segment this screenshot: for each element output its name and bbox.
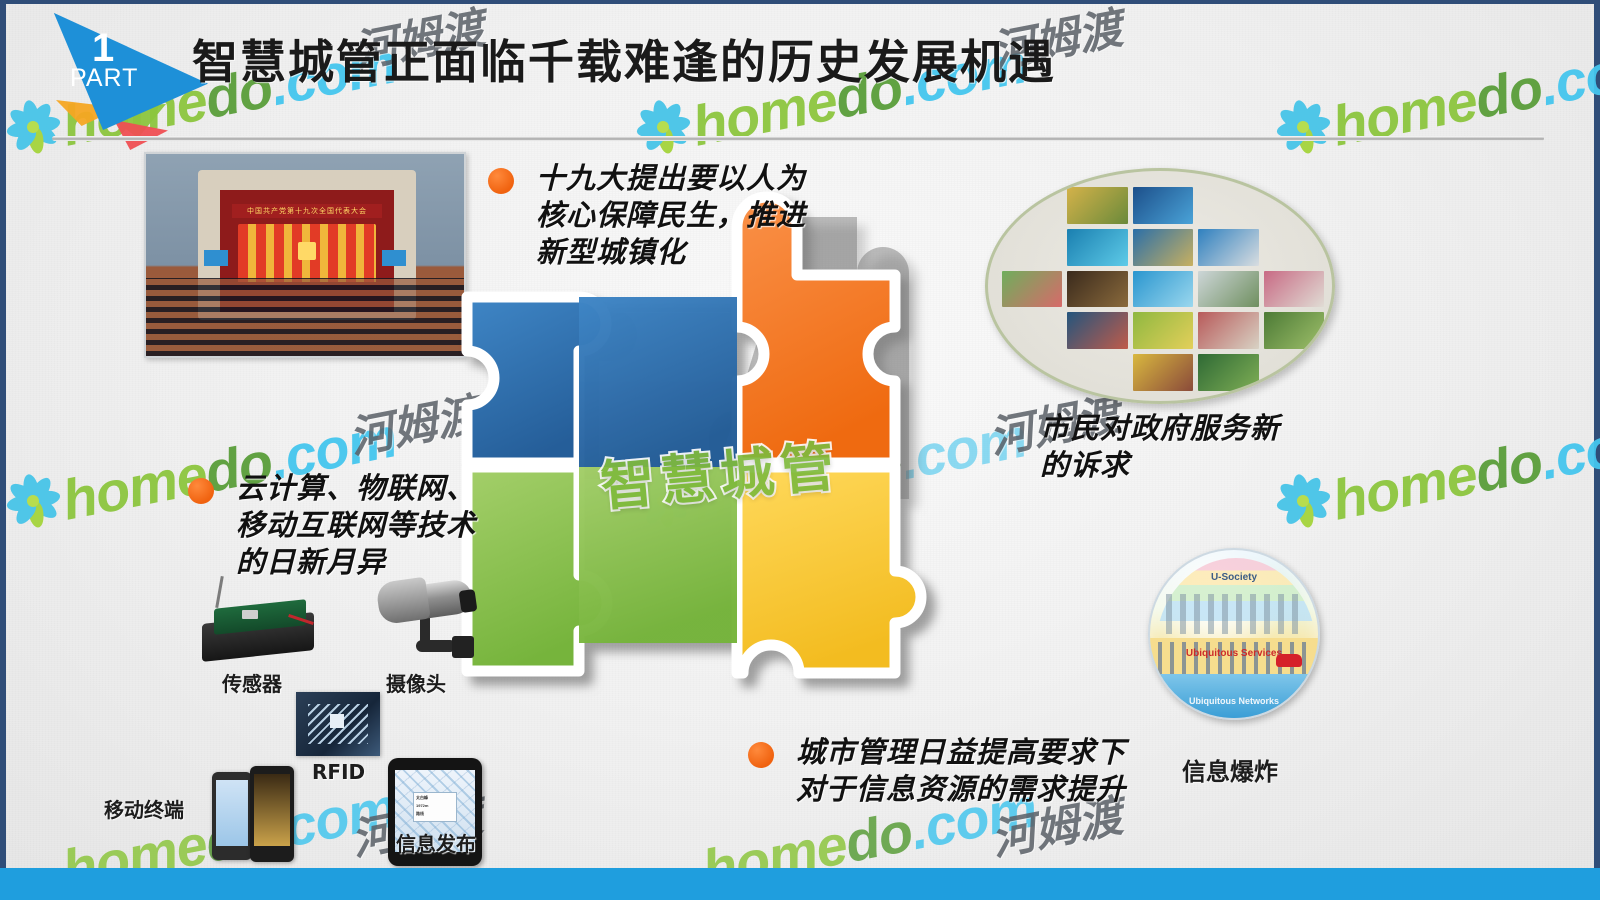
- watermark-do: do: [1470, 429, 1547, 504]
- sensor-label: 传感器: [222, 668, 282, 697]
- info-release-label: 信息发布: [396, 828, 476, 857]
- mobile-terminal-icon: [212, 766, 298, 862]
- rfid-label: RFID: [312, 760, 365, 784]
- bullet-dot-icon: [188, 478, 214, 504]
- watermark-do: do: [840, 799, 917, 874]
- sphere-text-networks: Ubiquitous Networks: [1150, 696, 1318, 706]
- sensor-icon: [196, 592, 322, 664]
- bullet-bottom: 城市管理日益提高要求下 对于信息资源的需求提升: [748, 734, 1148, 808]
- watermark-flower-icon: [1267, 91, 1340, 164]
- part-number: 1: [92, 28, 114, 68]
- photo-u-society-sphere: U-Society Ubiquitous Services Ubiquitous…: [1148, 548, 1320, 720]
- bullet-dot-icon: [748, 742, 774, 768]
- watermark-flower-icon: [627, 91, 700, 164]
- watermark-home: home: [1327, 68, 1482, 158]
- bullet-right-text: 市民对政府服务新 的诉求: [1040, 410, 1280, 484]
- slide-frame-left: [0, 0, 6, 870]
- bullet-left: 云计算、物联网、 移动互联网等技术 的日新月异: [188, 470, 518, 581]
- camera-icon: [376, 578, 486, 678]
- camera-label: 摄像头: [386, 668, 446, 697]
- mobile-label: 移动终端: [104, 794, 184, 823]
- part-word: PART: [70, 66, 138, 91]
- rfid-icon: [296, 692, 380, 756]
- bullet-top: 十九大提出要以人为 核心保障民生，推进 新型城镇化: [488, 160, 848, 271]
- bullet-top-text: 十九大提出要以人为 核心保障民生，推进 新型城镇化: [536, 160, 806, 271]
- sphere-text-services: Ubiquitous Services: [1150, 648, 1318, 659]
- part-badge: 1 PART: [44, 8, 208, 130]
- bottom-accent-bar: [0, 868, 1600, 900]
- slide-frame-right: [1594, 0, 1600, 870]
- slide-frame-top: [0, 0, 1600, 4]
- bullet-bottom-text: 城市管理日益提高要求下 对于信息资源的需求提升: [796, 734, 1126, 808]
- bullet-left-text: 云计算、物联网、 移动互联网等技术 的日新月异: [236, 470, 476, 581]
- watermark-do: do: [1470, 55, 1547, 130]
- watermark-com: .com: [1535, 405, 1600, 491]
- slide-canvas: homedo.com homedo.com homedo.com 河姆渡 河姆渡…: [0, 0, 1600, 900]
- bullet-dot-icon: [488, 168, 514, 194]
- congress-banner-text: 中国共产党第十九次全国代表大会: [232, 204, 382, 218]
- sphere-label: 信息爆炸: [1182, 752, 1278, 787]
- title-divider: [52, 136, 1544, 141]
- photo-congress-hall: 中国共产党第十九次全国代表大会: [144, 152, 466, 358]
- page-title: 智慧城管正面临千载难逢的历史发展机遇: [192, 26, 1056, 92]
- watermark-flower-icon: [0, 465, 69, 538]
- sphere-text-u-society: U-Society: [1150, 572, 1318, 583]
- bullet-right: 市民对政府服务新 的诉求: [1040, 410, 1370, 484]
- watermark-com: .com: [1535, 31, 1600, 117]
